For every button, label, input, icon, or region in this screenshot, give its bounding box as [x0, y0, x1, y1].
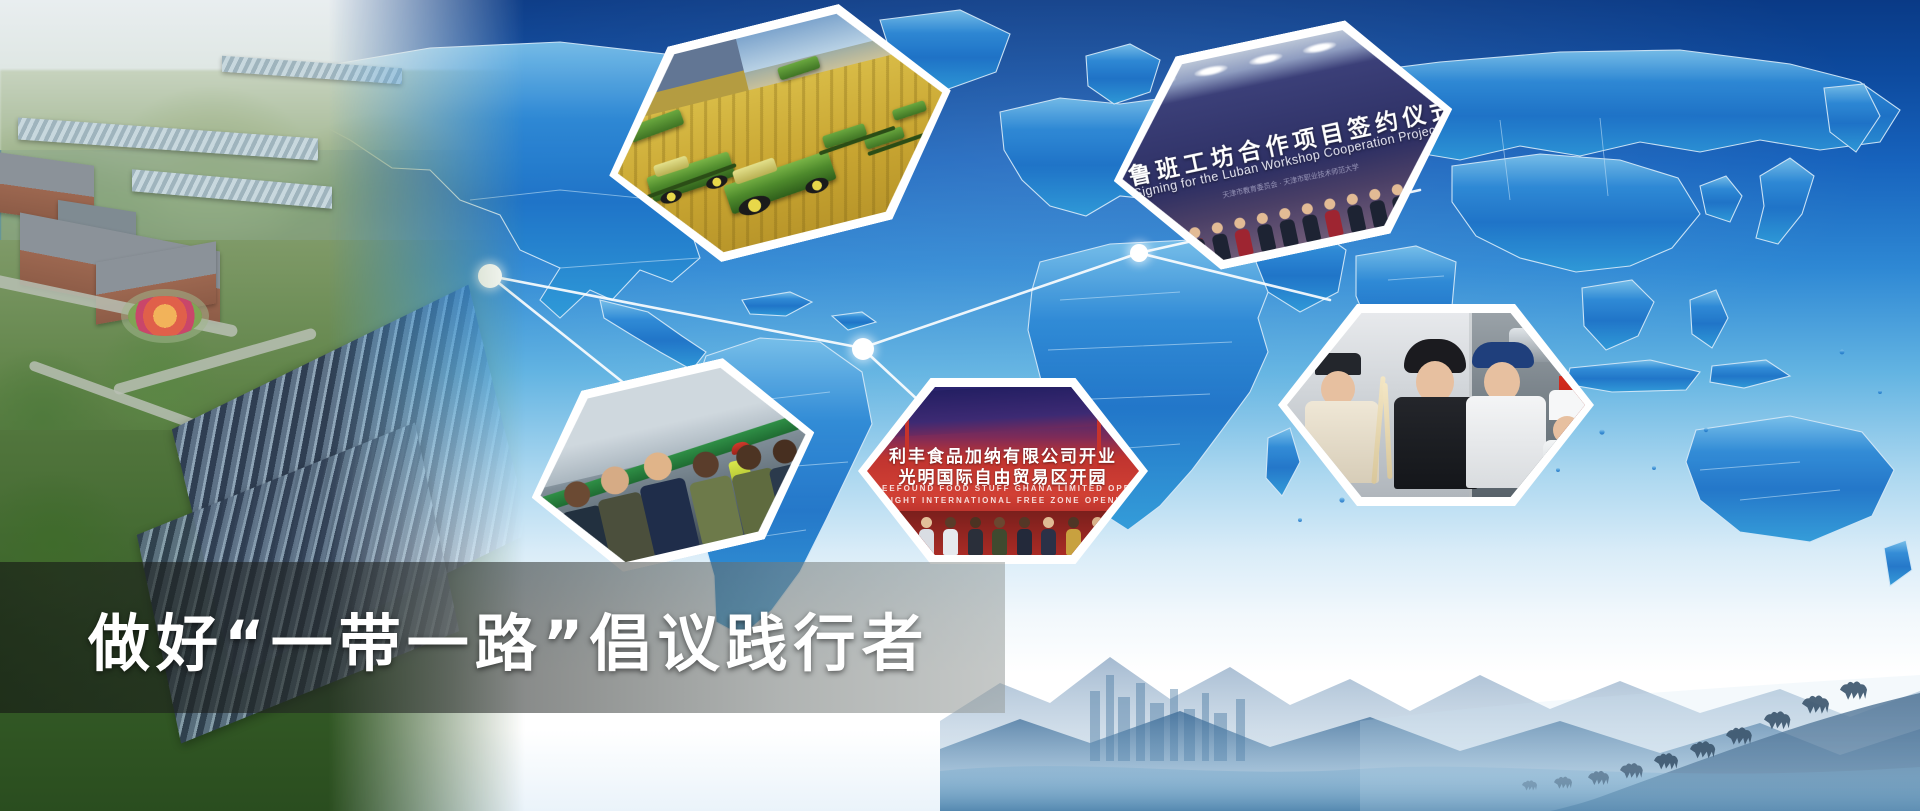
map-node-atlantic: [852, 338, 874, 360]
culinary-photo: [1287, 313, 1585, 497]
leefound-title-en-1: LEEFOUND FOOD STUFF GHANA LIMITED OPENIN…: [875, 484, 1131, 493]
flower-roundabout: [128, 296, 202, 336]
noodle-strand-2: [1383, 383, 1393, 479]
leefound-photo: 利丰食品加纳有限公司开业 光明国际自由贸易区开园 LEEFOUND FOOD S…: [867, 387, 1139, 555]
banner-image: 鲁班工坊合作项目签约仪式 Signing for the Luban Works…: [0, 0, 1920, 811]
map-node-europe: [1130, 244, 1148, 262]
page-title: 做好“一带一路”倡议践行者: [88, 593, 930, 683]
title-banner: 做好“一带一路”倡议践行者: [0, 562, 1005, 713]
chef-right: [1466, 342, 1546, 488]
